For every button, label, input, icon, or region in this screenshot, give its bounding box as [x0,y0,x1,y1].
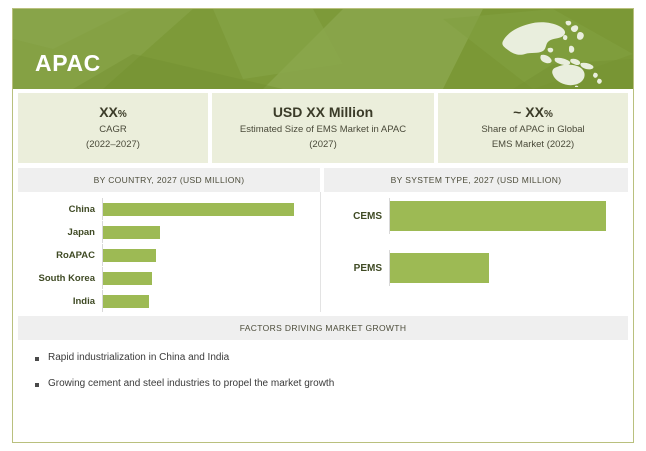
chart-by-country: China Japan RoAPAC South Korea [18,192,320,312]
bullet-icon [35,383,39,387]
list-item: Rapid industrialization in China and Ind… [35,352,628,363]
bar-fill [390,253,489,283]
bar-label: Japan [18,227,102,238]
chart-row-cems: CEMS [321,198,628,234]
factor-text: Growing cement and steel industries to p… [48,378,334,389]
stat-card-global-share: ~ XX% Share of APAC in Global EMS Market… [438,93,628,163]
section-title-factors: FACTORS DRIVING MARKET GROWTH [18,316,628,340]
bar-fill [103,226,160,239]
infographic-container: APAC XX% CAGR (2022–2027) USD XX Million… [12,8,634,443]
bar-label: PEMS [321,263,389,274]
bar-track [102,244,320,266]
chart-row-india: India [18,290,320,312]
chart-by-system-type: CEMS PEMS [320,192,628,312]
stat-number: XX [99,104,118,120]
stat-label-global-share: Share of APAC in Global [444,123,622,137]
stat-card-cagr: XX% CAGR (2022–2027) [18,93,208,163]
chart-row-roapac: RoAPAC [18,244,320,266]
bar-fill [390,201,606,231]
chart-row-south-korea: South Korea [18,267,320,289]
stat-number: XX [306,104,325,120]
bar-label: South Korea [18,273,102,284]
chart-row-china: China [18,198,320,220]
factor-text: Rapid industrialization in China and Ind… [48,352,229,363]
stat-value-cagr: XX% [24,103,202,122]
stat-prefix: USD [273,104,306,120]
stat-cards-row: XX% CAGR (2022–2027) USD XX Million Esti… [13,89,633,163]
stat-card-market-size: USD XX Million Estimated Size of EMS Mar… [212,93,434,163]
charts-area: China Japan RoAPAC South Korea [13,192,633,312]
stat-suffix: % [118,109,127,120]
bar-track [389,198,628,234]
chart-row-pems: PEMS [321,250,628,286]
bar-label: India [18,296,102,307]
stat-period-market-size: (2027) [218,138,428,152]
stat-period-cagr: (2022–2027) [24,138,202,152]
stat-period-global-share: EMS Market (2022) [444,138,622,152]
bar-fill [103,295,149,308]
bar-fill [103,272,152,285]
section-title-by-system-type: BY SYSTEM TYPE, 2027 (USD MILLION) [324,168,628,192]
asia-pacific-map-icon [497,15,605,87]
bar-label: China [18,204,102,215]
bar-track [102,290,320,312]
list-item: Growing cement and steel industries to p… [35,378,628,389]
factors-list: Rapid industrialization in China and Ind… [13,340,633,389]
section-title-by-country: BY COUNTRY, 2027 (USD MILLION) [18,168,320,192]
stat-value-market-size: USD XX Million [218,103,428,122]
bar-track [389,250,628,286]
stat-number: XX [525,104,544,120]
bar-track [102,221,320,243]
stat-prefix: ~ [513,104,525,120]
bar-fill [103,203,294,216]
stat-value-global-share: ~ XX% [444,103,622,122]
bar-track [102,198,320,220]
bar-label: CEMS [321,211,389,222]
chart-row-japan: Japan [18,221,320,243]
bullet-icon [35,357,39,361]
page-title: APAC [35,50,101,77]
bar-fill [103,249,156,262]
header-banner: APAC [13,9,633,89]
stat-label-market-size: Estimated Size of EMS Market in APAC [218,123,428,137]
stat-label-cagr: CAGR [24,123,202,137]
bar-label: RoAPAC [18,250,102,261]
stat-suffix: Million [325,104,373,120]
chart-section-headers: BY COUNTRY, 2027 (USD MILLION) BY SYSTEM… [13,163,633,192]
stat-suffix: % [544,109,553,120]
bar-track [102,267,320,289]
